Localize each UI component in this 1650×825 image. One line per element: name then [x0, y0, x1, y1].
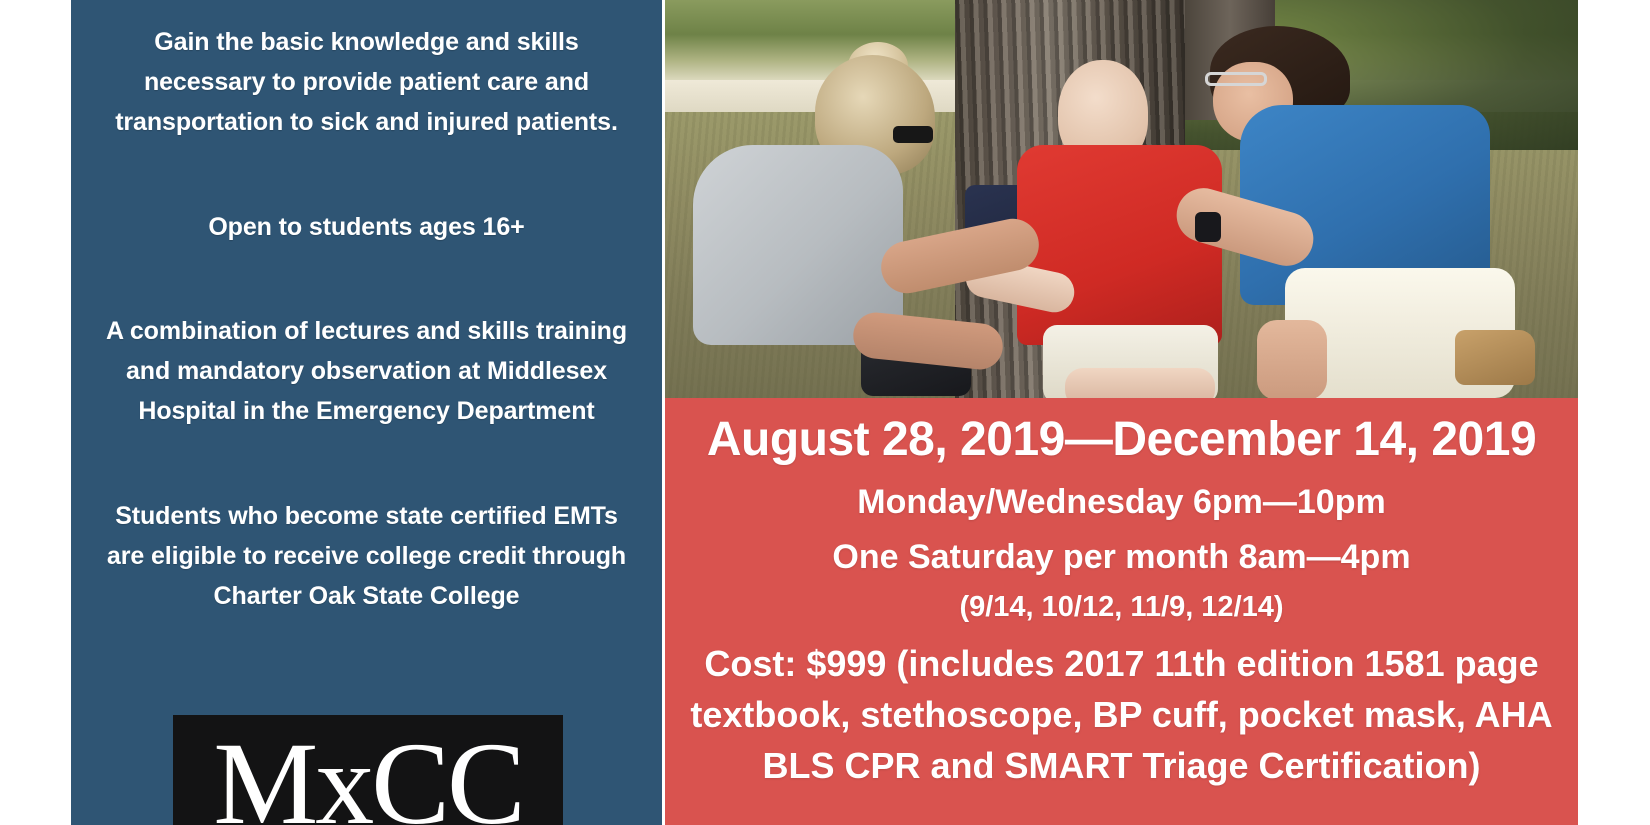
- emt-course-flyer: Gain the basic knowledge and skills nece…: [0, 0, 1650, 825]
- photo-male-student-watch: [1195, 212, 1221, 242]
- course-details-panel: Gain the basic knowledge and skills nece…: [71, 0, 662, 825]
- age-requirement-paragraph: Open to students ages 16+: [95, 207, 638, 247]
- college-credit-paragraph: Students who become state certified EMTs…: [95, 496, 638, 616]
- weekday-schedule: Monday/Wednesday 6pm—10pm: [675, 481, 1568, 523]
- photo-manikin-red-shirt: [1017, 145, 1222, 345]
- photo-manikin-leg: [1065, 368, 1215, 398]
- photo-male-student-shoe: [1455, 330, 1535, 385]
- course-cost: Cost: $999 (includes 2017 11th edition 1…: [675, 638, 1568, 791]
- course-format-paragraph: A combination of lectures and skills tra…: [95, 311, 638, 431]
- mxcc-logo: MxCC: [173, 715, 563, 825]
- emt-training-photo: [665, 0, 1578, 398]
- course-date-range: August 28, 2019—December 14, 2019: [675, 412, 1568, 468]
- mxcc-logo-text: MxCC: [213, 725, 522, 825]
- photo-male-student-leg: [1257, 320, 1327, 398]
- saturday-dates: (9/14, 10/12, 11/9, 12/14): [675, 588, 1568, 626]
- right-column: August 28, 2019—December 14, 2019 Monday…: [665, 0, 1578, 825]
- course-description-paragraph: Gain the basic knowledge and skills nece…: [95, 22, 638, 142]
- schedule-and-cost-panel: August 28, 2019—December 14, 2019 Monday…: [665, 398, 1578, 825]
- photo-female-student-sunglasses: [893, 126, 933, 143]
- saturday-schedule: One Saturday per month 8am—4pm: [675, 536, 1568, 578]
- photo-male-student-eyeglasses: [1205, 72, 1267, 86]
